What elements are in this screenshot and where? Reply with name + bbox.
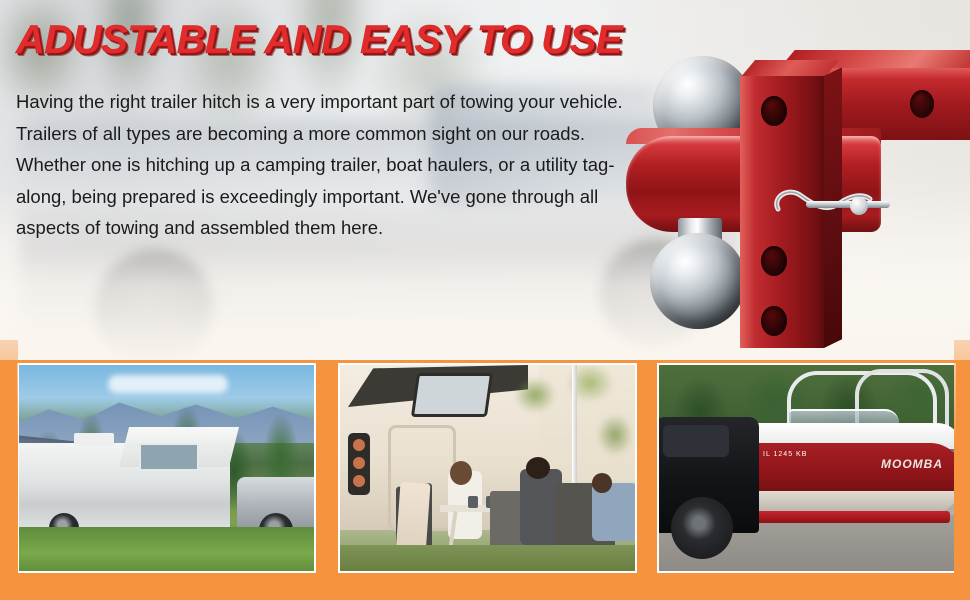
left-orange-rail (0, 340, 18, 600)
suv-tire (671, 497, 733, 559)
hitch-shank-hole-3 (761, 306, 787, 336)
photo-3-scene: IL 1245 KB MOOMBA (659, 365, 954, 571)
hitch-ball-lower (650, 233, 746, 329)
person-reclining-head (592, 473, 612, 493)
mug-1 (468, 496, 478, 508)
taillight-1 (353, 439, 365, 451)
promo-banner: ADUSTABLE AND EASY TO USE Having the rig… (0, 0, 970, 600)
trailer-ac-unit (74, 433, 114, 446)
photo-fifth-wheel-rv-with-truck (17, 363, 316, 573)
hitch-pin-knob (850, 197, 868, 215)
photo-family-camping-by-motorhome (338, 363, 637, 573)
motorhome-taillights (348, 433, 370, 495)
person-man-head (526, 457, 550, 479)
cloud (108, 375, 228, 393)
banner-body-copy: Having the right trailer hitch is a very… (16, 86, 636, 244)
hitch-pin-clip-icon (770, 183, 894, 227)
hitch-pin-shaft (806, 201, 890, 208)
boat-registration-number: IL 1245 KB (763, 451, 807, 458)
foliage (495, 363, 637, 485)
motorhome-window (411, 373, 493, 417)
body-paragraph-2: Whether one is hitching up a camping tra… (16, 149, 636, 244)
grass-foreground (340, 545, 635, 571)
boat-brand-logo: MOOMBA (881, 457, 943, 471)
banner-headline: ADUSTABLE AND EASY TO USE (16, 18, 622, 63)
hitch-product-image (618, 28, 970, 358)
taillight-3 (353, 475, 365, 487)
photo-strip: IL 1245 KB MOOMBA (0, 363, 970, 573)
taillight-2 (353, 457, 365, 469)
hitch-shank-hole-1 (761, 96, 787, 126)
person-woman-head (450, 461, 472, 485)
right-orange-rail (954, 340, 970, 600)
photo-1-scene (19, 365, 314, 571)
hitch-arm-hole (910, 90, 934, 118)
suv-window (663, 425, 729, 457)
body-paragraph-1: Having the right trailer hitch is a very… (16, 86, 636, 149)
photo-suv-towing-boat: IL 1245 KB MOOMBA (657, 363, 956, 573)
boat-trailer-frame (745, 511, 950, 523)
trailer-window (139, 443, 199, 471)
grass-foreground (19, 527, 314, 571)
boat-bottom-stripe (743, 491, 956, 511)
bottom-orange-band (0, 573, 970, 600)
hitch-shank-hole-2 (761, 246, 787, 276)
photo-2-scene (340, 365, 635, 571)
